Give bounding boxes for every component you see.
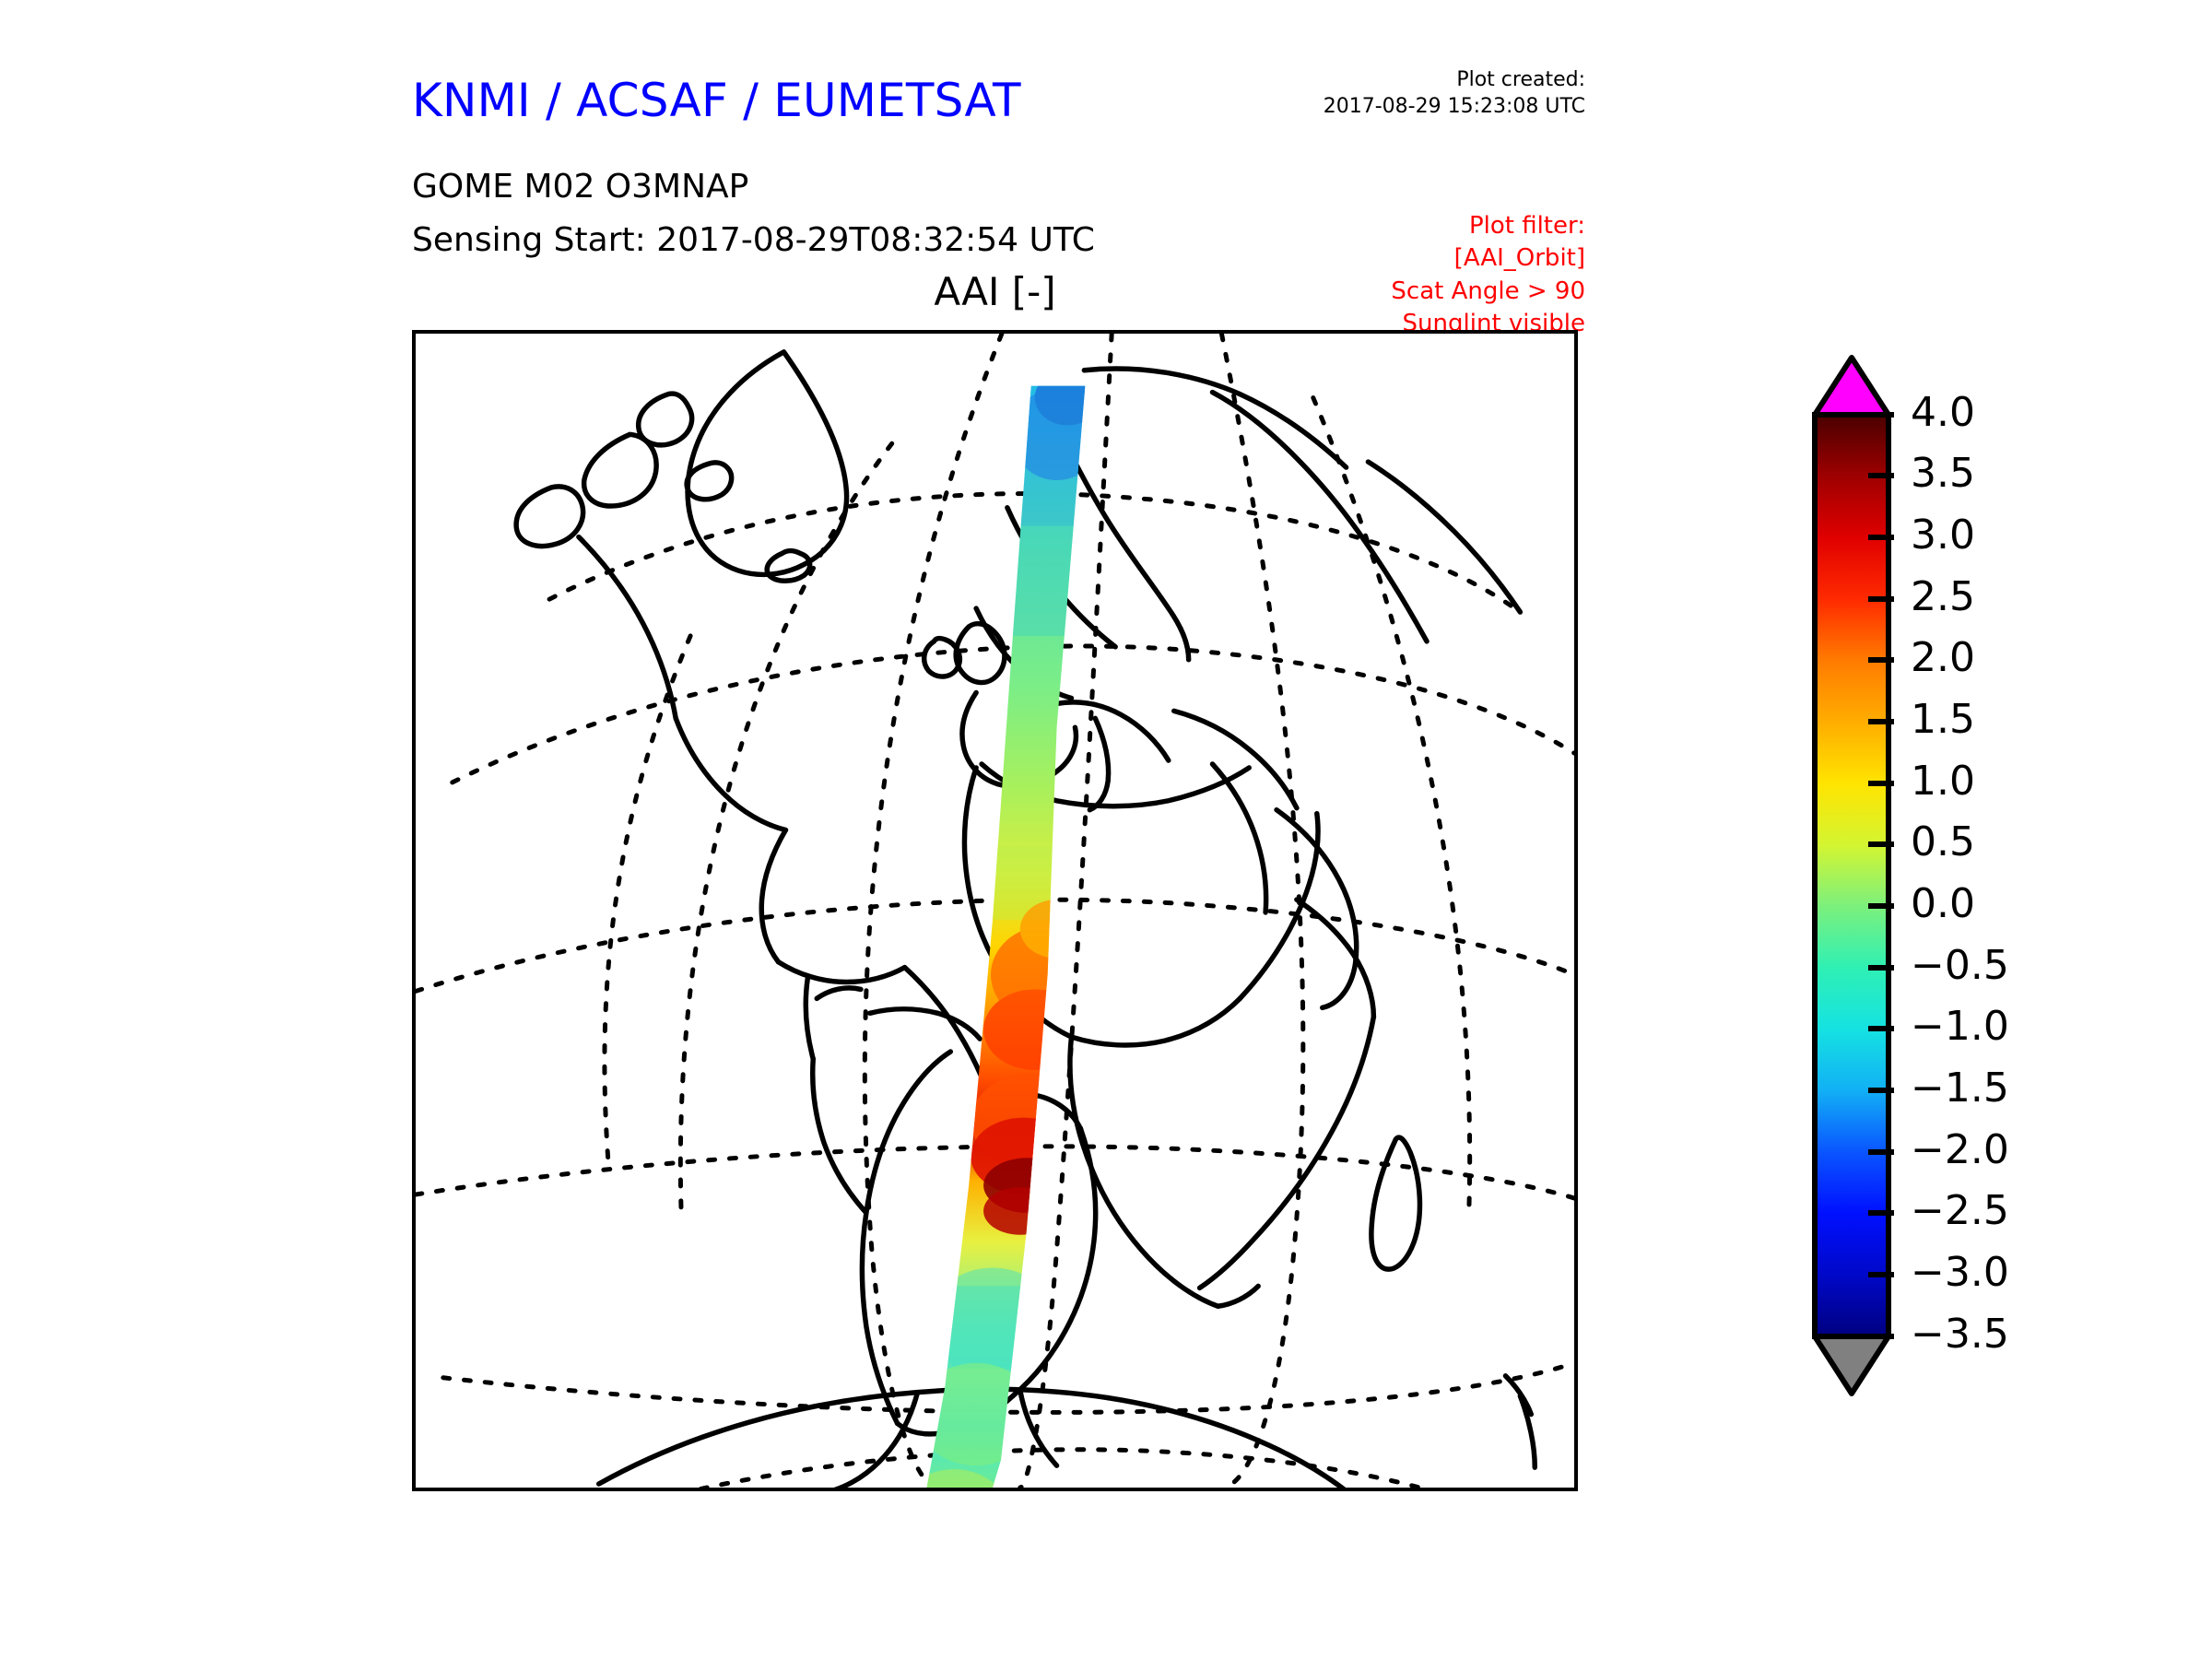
colorbar-svg: 4.0 3.5 3.0 2.5 2.0 1.5 1.0 0.5 0.0 −0.5… [1802,341,2152,1484]
colorbar-tick-label: −2.5 [1911,1187,2009,1234]
colorbar-tick-label: 0.5 [1911,818,1975,865]
colorbar: 4.0 3.5 3.0 2.5 2.0 1.5 1.0 0.5 0.0 −0.5… [1802,341,2152,1484]
globe-map [416,334,1574,1488]
map-plot-area [412,330,1578,1491]
colorbar-tick-label: 3.0 [1911,512,1975,559]
plot-created-timestamp: 2017-08-29 15:23:08 UTC [1226,93,1585,120]
colorbar-tick-label: 1.5 [1911,696,1975,743]
plot-created-label: Plot created: [1226,66,1585,93]
colorbar-under-arrow [1815,1336,1888,1394]
colorbar-tick-label: −3.0 [1911,1249,2009,1296]
plot-filter-label: Plot filter: [1226,210,1585,242]
colorbar-tick-label: −3.5 [1911,1311,2009,1358]
colorbar-tick-label: 4.0 [1911,389,1975,436]
colorbar-tick-label: 1.0 [1911,758,1975,805]
colorbar-tick-label: 0.0 [1911,880,1975,927]
colorbar-tick-label: −1.0 [1911,1003,2009,1050]
plot-created-block: Plot created: 2017-08-29 15:23:08 UTC [1226,66,1585,120]
satellite-swath [874,371,1130,1488]
colorbar-tick-label: 3.5 [1911,450,1975,497]
chart-title: AAI [-] [412,269,1578,314]
product-name: GOME M02 O3MNAP [412,168,748,206]
organisation-title: KNMI / ACSAF / EUMETSAT [412,74,1021,127]
colorbar-gradient [1815,415,1888,1336]
sensing-start-line: Sensing Start: 2017-08-29T08:32:54 UTC [412,221,1095,259]
colorbar-tick-label: −1.5 [1911,1065,2009,1112]
colorbar-tick-label: 2.0 [1911,634,1975,681]
colorbar-tick-label: −0.5 [1911,942,2009,989]
colorbar-tick-label: 2.5 [1911,573,1975,620]
colorbar-over-arrow [1815,358,1888,415]
swath-saturated-patch [1037,1185,1066,1233]
colorbar-tick-label: −2.0 [1911,1126,2009,1173]
